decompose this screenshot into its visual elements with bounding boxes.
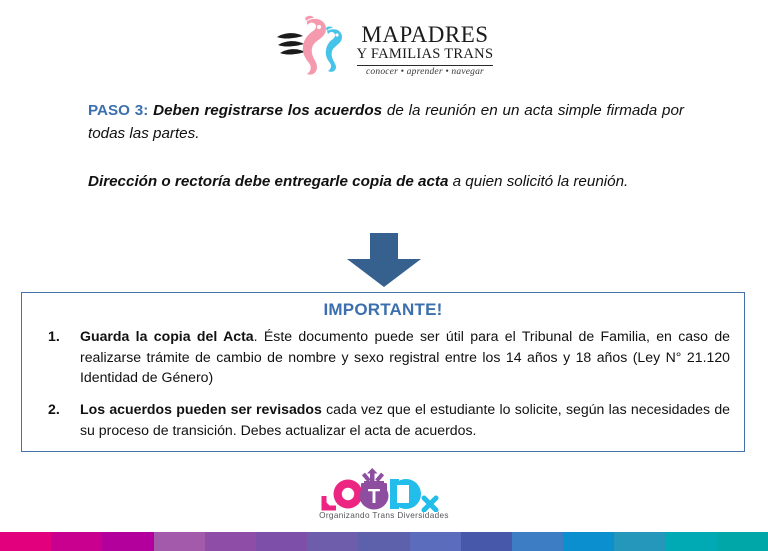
list-item-marker: 2. — [36, 399, 80, 420]
gradient-stripe-segment-1 — [0, 532, 51, 551]
gradient-stripe-segment-8 — [358, 532, 409, 551]
brand-name-line1: MAPADRES — [361, 23, 488, 46]
down-arrow-icon — [341, 233, 427, 287]
important-title: IMPORTANTE! — [36, 299, 730, 322]
gradient-stripe-segment-2 — [51, 532, 102, 551]
list-item-text: Los acuerdos pueden ser revisados cada v… — [80, 399, 730, 440]
brand-tagline: conocer • aprender • navegar — [366, 67, 484, 77]
brand-divider — [357, 65, 494, 66]
slide-root: MAPADRES Y FAMILIAS TRANS conocer • apre… — [0, 0, 768, 551]
brand-name-line2: Y FAMILIAS TRANS — [357, 46, 494, 63]
mapadres-wordmark: MAPADRES Y FAMILIAS TRANS conocer • apre… — [357, 23, 494, 79]
gradient-stripe-segment-4 — [154, 532, 205, 551]
list-item-marker: 1. — [36, 326, 80, 347]
svg-text:T: T — [368, 486, 380, 508]
gradient-stripe-segment-10 — [461, 532, 512, 551]
list-item: 1. Guarda la copia del Acta. Éste docume… — [36, 326, 730, 388]
gradient-stripe-segment-13 — [614, 532, 665, 551]
gradient-stripe-segment-11 — [512, 532, 563, 551]
gradient-stripe-segment-12 — [563, 532, 614, 551]
paragraph-paso-3: PASO 3: Deben registrarse los acuerdos d… — [88, 99, 684, 145]
paragraph-direccion: Dirección o rectoría debe entregarle cop… — [88, 170, 684, 193]
paragraph-2-rest: a quien solicitó la reunión. — [448, 173, 628, 190]
step-label: PASO 3: — [88, 102, 148, 119]
important-callout-box: IMPORTANTE! 1. Guarda la copia del Acta.… — [21, 292, 745, 452]
otd-tagline: Organizando Trans Diversidades — [319, 511, 449, 520]
gradient-stripe-segment-3 — [102, 532, 153, 551]
list-item-bold: Guarda la copia del Acta — [80, 328, 254, 344]
otd-logo: T Organizando Trans Diversidades — [0, 468, 768, 526]
gradient-stripe-segment-9 — [410, 532, 461, 551]
paragraph-1-bold: Deben registrarse los acuerdos — [148, 102, 382, 119]
important-list: 1. Guarda la copia del Acta. Éste docume… — [36, 326, 730, 441]
mapadres-logo-inner: MAPADRES Y FAMILIAS TRANS conocer • apre… — [275, 13, 494, 79]
gradient-stripe-segment-14 — [666, 532, 717, 551]
mapadres-logo: MAPADRES Y FAMILIAS TRANS conocer • apre… — [0, 10, 768, 82]
otd-logo-mark-icon: T — [318, 468, 450, 512]
gradient-stripe-segment-5 — [205, 532, 256, 551]
gradient-stripe-segment-7 — [307, 532, 358, 551]
paragraph-2-bold: Dirección o rectoría debe entregarle cop… — [88, 173, 448, 190]
seahorse-icon — [275, 13, 353, 79]
list-item-text: Guarda la copia del Acta. Éste documento… — [80, 326, 730, 388]
list-item: 2. Los acuerdos pueden ser revisados cad… — [36, 399, 730, 440]
gradient-stripe-segment-15 — [717, 532, 768, 551]
gradient-stripe-segment-6 — [256, 532, 307, 551]
list-item-bold: Los acuerdos pueden ser revisados — [80, 401, 322, 417]
bottom-gradient-bar — [0, 532, 768, 551]
